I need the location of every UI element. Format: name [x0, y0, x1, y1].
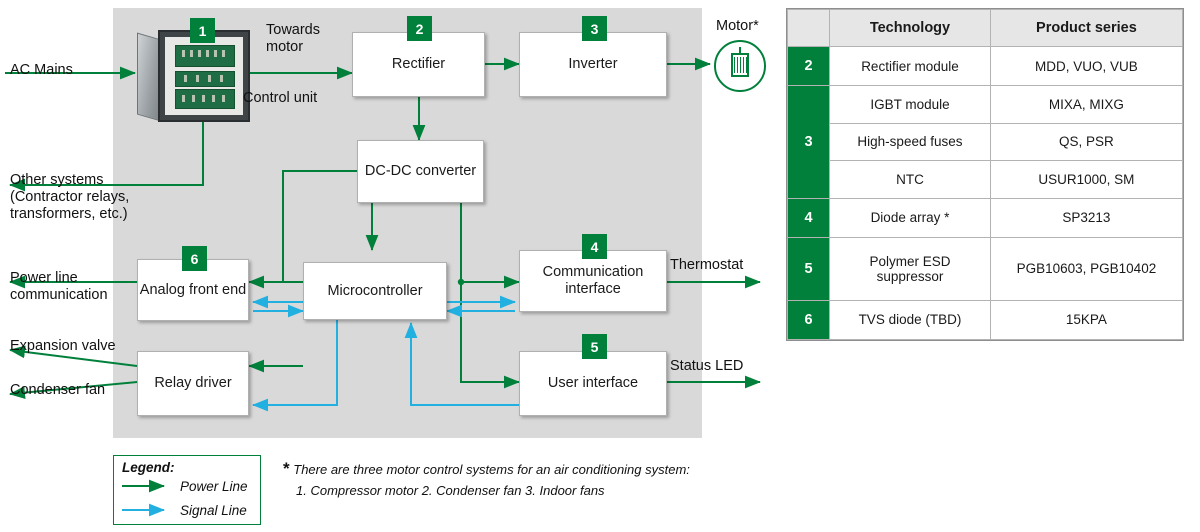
legend-signal-line-swatch: [122, 504, 174, 516]
table-cell-technology: TVS diode (TBD): [830, 300, 991, 339]
table-cell-technology: Polymer ESD suppressor: [830, 237, 991, 300]
pcb-board-bottom: [175, 89, 235, 109]
table-cell-number: 2: [788, 47, 830, 86]
label-motor: Motor*: [716, 18, 759, 35]
badge-1: 1: [190, 18, 215, 43]
table-cell-number: 4: [788, 198, 830, 237]
legend-power-line-label: Power Line: [180, 479, 248, 494]
table-cell-series: SP3213: [990, 198, 1182, 237]
block-inverter: Inverter: [519, 32, 667, 97]
label-ac-mains: AC Mains: [10, 62, 73, 79]
diagram-page: 1 2 3 4 5 6 Rectifier Inverter DC-DC con…: [0, 0, 1200, 532]
block-diagram: 1 2 3 4 5 6 Rectifier Inverter DC-DC con…: [0, 0, 780, 532]
table-cell-technology: High-speed fuses: [830, 123, 991, 160]
table-row: 6 TVS diode (TBD) 15KPA: [788, 300, 1183, 339]
pcb-board-top: [175, 45, 235, 67]
table-row: 2 Rectifier module MDD, VUO, VUB: [788, 47, 1183, 86]
table-header-technology: Technology: [830, 10, 991, 47]
table-cell-series: MIXA, MIXG: [990, 86, 1182, 123]
table-cell-series: 15KPA: [990, 300, 1182, 339]
pcb-board-middle: [175, 71, 235, 87]
technology-table: Technology Product series 2 Rectifier mo…: [786, 8, 1184, 341]
block-user-interface: User interface: [519, 351, 667, 416]
badge-2: 2: [407, 16, 432, 41]
table-cell-series: MDD, VUO, VUB: [990, 47, 1182, 86]
label-thermostat: Thermostat: [670, 257, 743, 274]
label-power-line-communication: Power line communication: [10, 270, 108, 304]
legend-title: Legend:: [122, 460, 175, 475]
badge-5: 5: [582, 334, 607, 359]
table-row: 5 Polymer ESD suppressor PGB10603, PGB10…: [788, 237, 1183, 300]
footnote-line-1: There are three motor control systems fo…: [293, 462, 690, 477]
control-unit-body: [158, 30, 250, 122]
table-cell-technology: Rectifier module: [830, 47, 991, 86]
block-relay-driver: Relay driver: [137, 351, 249, 416]
footnote-marker: *: [283, 459, 290, 478]
table-cell-technology: Diode array *: [830, 198, 991, 237]
table-cell-series: QS, PSR: [990, 123, 1182, 160]
badge-3: 3: [582, 16, 607, 41]
label-expansion-valve: Expansion valve: [10, 338, 116, 355]
block-rectifier: Rectifier: [352, 32, 485, 97]
block-microcontroller: Microcontroller: [303, 262, 447, 320]
footnote: * There are three motor control systems …: [283, 457, 690, 500]
block-communication-interface: Communication interface: [519, 250, 667, 312]
table-header-row: Technology Product series: [788, 10, 1183, 47]
control-unit-image: [137, 30, 247, 118]
table-row: 4 Diode array * SP3213: [788, 198, 1183, 237]
table-cell-technology: IGBT module: [830, 86, 991, 123]
table-cell-number: 6: [788, 300, 830, 339]
block-dc-dc-converter: DC-DC converter: [357, 140, 484, 203]
label-towards-motor: Towards motor: [266, 22, 320, 56]
legend-signal-line-label: Signal Line: [180, 503, 247, 518]
table-cell-number: 3: [788, 86, 830, 198]
label-condenser-fan: Condenser fan: [10, 382, 105, 399]
table-row: High-speed fuses QS, PSR: [788, 123, 1183, 160]
table-header-product-series: Product series: [990, 10, 1182, 47]
legend-power-line-swatch: [122, 480, 174, 492]
table-row: NTC USUR1000, SM: [788, 161, 1183, 198]
table-cell-series: PGB10603, PGB10402: [990, 237, 1182, 300]
badge-4: 4: [582, 234, 607, 259]
table-cell-number: 5: [788, 237, 830, 300]
table-cell-series: USUR1000, SM: [990, 161, 1182, 198]
badge-6: 6: [182, 246, 207, 271]
table-cell-technology: NTC: [830, 161, 991, 198]
control-unit-inner: [165, 37, 243, 115]
legend-box: Legend: Power Line Signal Line: [113, 455, 261, 525]
label-control-unit: Control unit: [243, 90, 317, 107]
label-status-led: Status LED: [670, 358, 743, 375]
label-other-systems: Other systems (Contractor relays, transf…: [10, 172, 129, 223]
motor-icon: [714, 40, 766, 92]
table-header-number: [788, 10, 830, 47]
footnote-line-2: 1. Compressor motor 2. Condenser fan 3. …: [296, 482, 605, 501]
table-row: 3 IGBT module MIXA, MIXG: [788, 86, 1183, 123]
